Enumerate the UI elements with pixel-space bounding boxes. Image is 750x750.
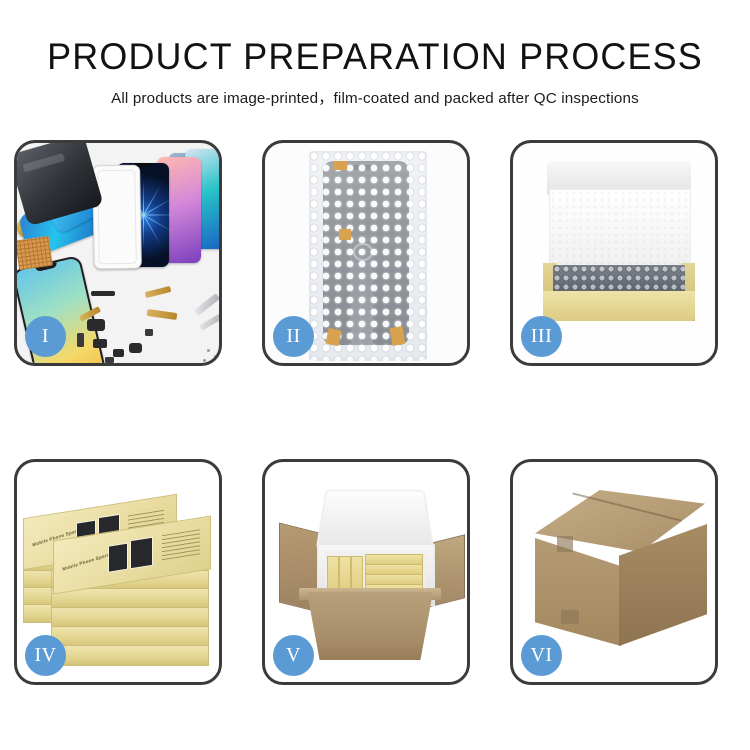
- process-step-5: V: [262, 459, 470, 685]
- process-step-3: III: [510, 140, 718, 366]
- box-spec-lines: [162, 529, 200, 560]
- grey-bubble-wrap-icon: [553, 265, 685, 293]
- flex-cable-icon: [145, 286, 172, 298]
- screwdriver-icon: [199, 313, 219, 330]
- process-step-6: VI: [510, 459, 718, 685]
- step-badge-6: VI: [521, 635, 562, 676]
- carton-left-face-icon: [535, 538, 621, 646]
- small-part-icon: [77, 333, 84, 347]
- component-icon: [113, 349, 124, 357]
- tape-icon: [333, 161, 347, 170]
- product-preparation-infographic: PRODUCT PREPARATION PROCESS All products…: [0, 0, 750, 750]
- screen-protector-icon: [92, 165, 142, 270]
- box-product-image: [108, 543, 128, 573]
- speaker-part-icon: [91, 291, 115, 296]
- flex-cable-icon: [147, 309, 178, 320]
- foam-sheet-icon: [549, 189, 691, 267]
- carton-body-icon: [307, 592, 433, 660]
- page-title: PRODUCT PREPARATION PROCESS: [11, 38, 739, 77]
- vibrator-icon: [129, 343, 142, 353]
- step-badge-1: I: [25, 316, 66, 357]
- process-step-4: Mobile Phone Spare Parts Mobile Phone Sp…: [14, 459, 222, 685]
- copper-mesh-icon: [17, 236, 53, 270]
- small-part-icon: [105, 357, 114, 363]
- carton-tape-icon: [557, 536, 573, 552]
- small-part-icon: [145, 329, 153, 336]
- page-subtitle: All products are image-printed，film-coat…: [0, 86, 750, 108]
- tape-icon: [339, 229, 351, 240]
- box-product-image: [130, 537, 153, 570]
- step-badge-5: V: [273, 635, 314, 676]
- step-badge-3: III: [521, 316, 562, 357]
- process-step-grid: I II: [14, 140, 736, 685]
- bubble-wrap-icon: [309, 151, 427, 361]
- carton-tape-icon: [561, 610, 579, 624]
- component-icon: [93, 339, 107, 348]
- step-badge-4: IV: [25, 635, 66, 676]
- box-front-panel-icon: [543, 291, 695, 321]
- process-step-2: II: [262, 140, 470, 366]
- styrofoam-lid-icon: [316, 490, 435, 550]
- step-badge-2: II: [273, 316, 314, 357]
- tweezers-icon: [194, 293, 219, 316]
- process-step-1: I: [14, 140, 222, 366]
- header: PRODUCT PREPARATION PROCESS All products…: [0, 38, 750, 108]
- camera-module-icon: [87, 319, 105, 331]
